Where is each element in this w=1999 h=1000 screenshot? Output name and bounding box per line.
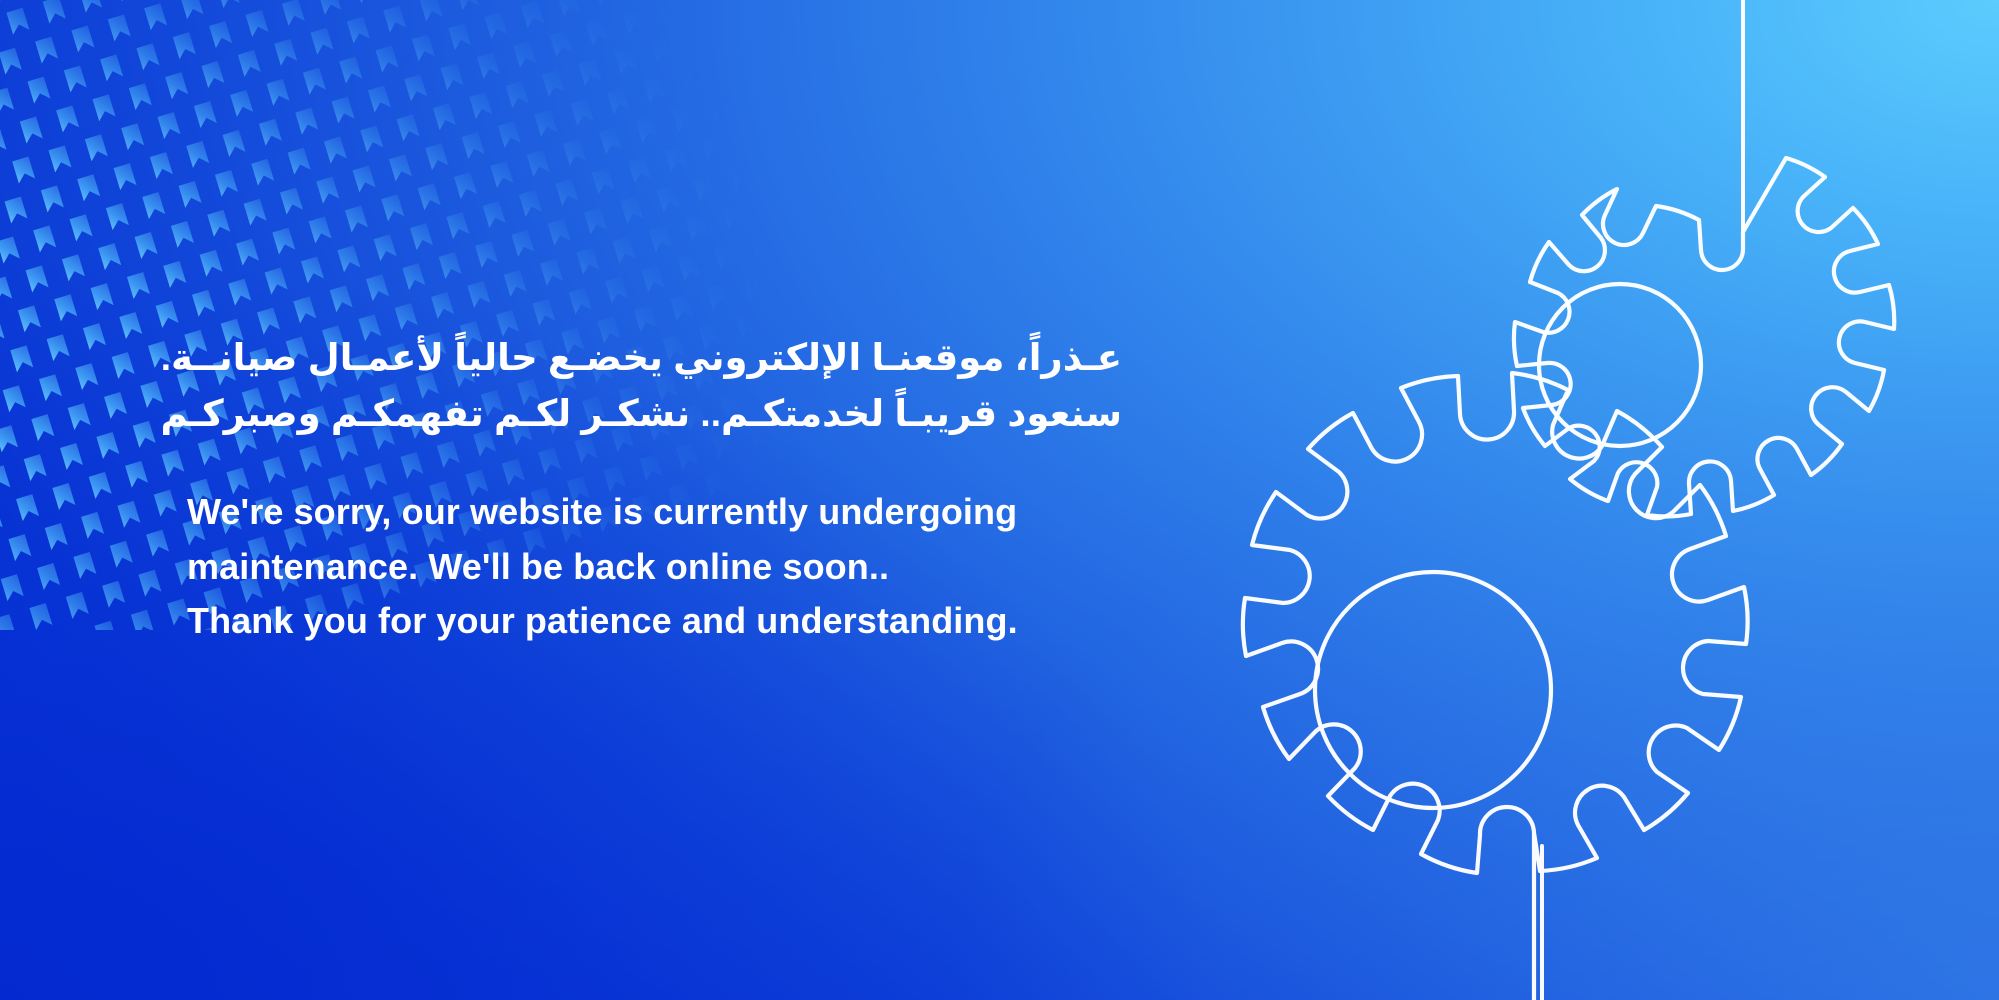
arabic-message: عـذراً، موقعنـا الإلكتروني يخضـع حالياً … bbox=[187, 330, 1122, 441]
english-line-3: Thank you for your patience and understa… bbox=[187, 594, 1137, 649]
arabic-line-1: عـذراً، موقعنـا الإلكتروني يخضـع حالياً … bbox=[187, 330, 1122, 386]
english-message: We're sorry, our website is currently un… bbox=[187, 485, 1137, 649]
english-line-2: maintenance. We'll be back online soon.. bbox=[187, 540, 1137, 595]
message-block: عـذراً، موقعنـا الإلكتروني يخضـع حالياً … bbox=[187, 330, 1137, 649]
arabic-line-2: سنعود قريبـاً لخدمتكـم.. نشكـر لكـم تفهم… bbox=[187, 386, 1122, 442]
english-line-1: We're sorry, our website is currently un… bbox=[187, 485, 1137, 540]
maintenance-page: عـذراً، موقعنـا الإلكتروني يخضـع حالياً … bbox=[0, 0, 1999, 1000]
